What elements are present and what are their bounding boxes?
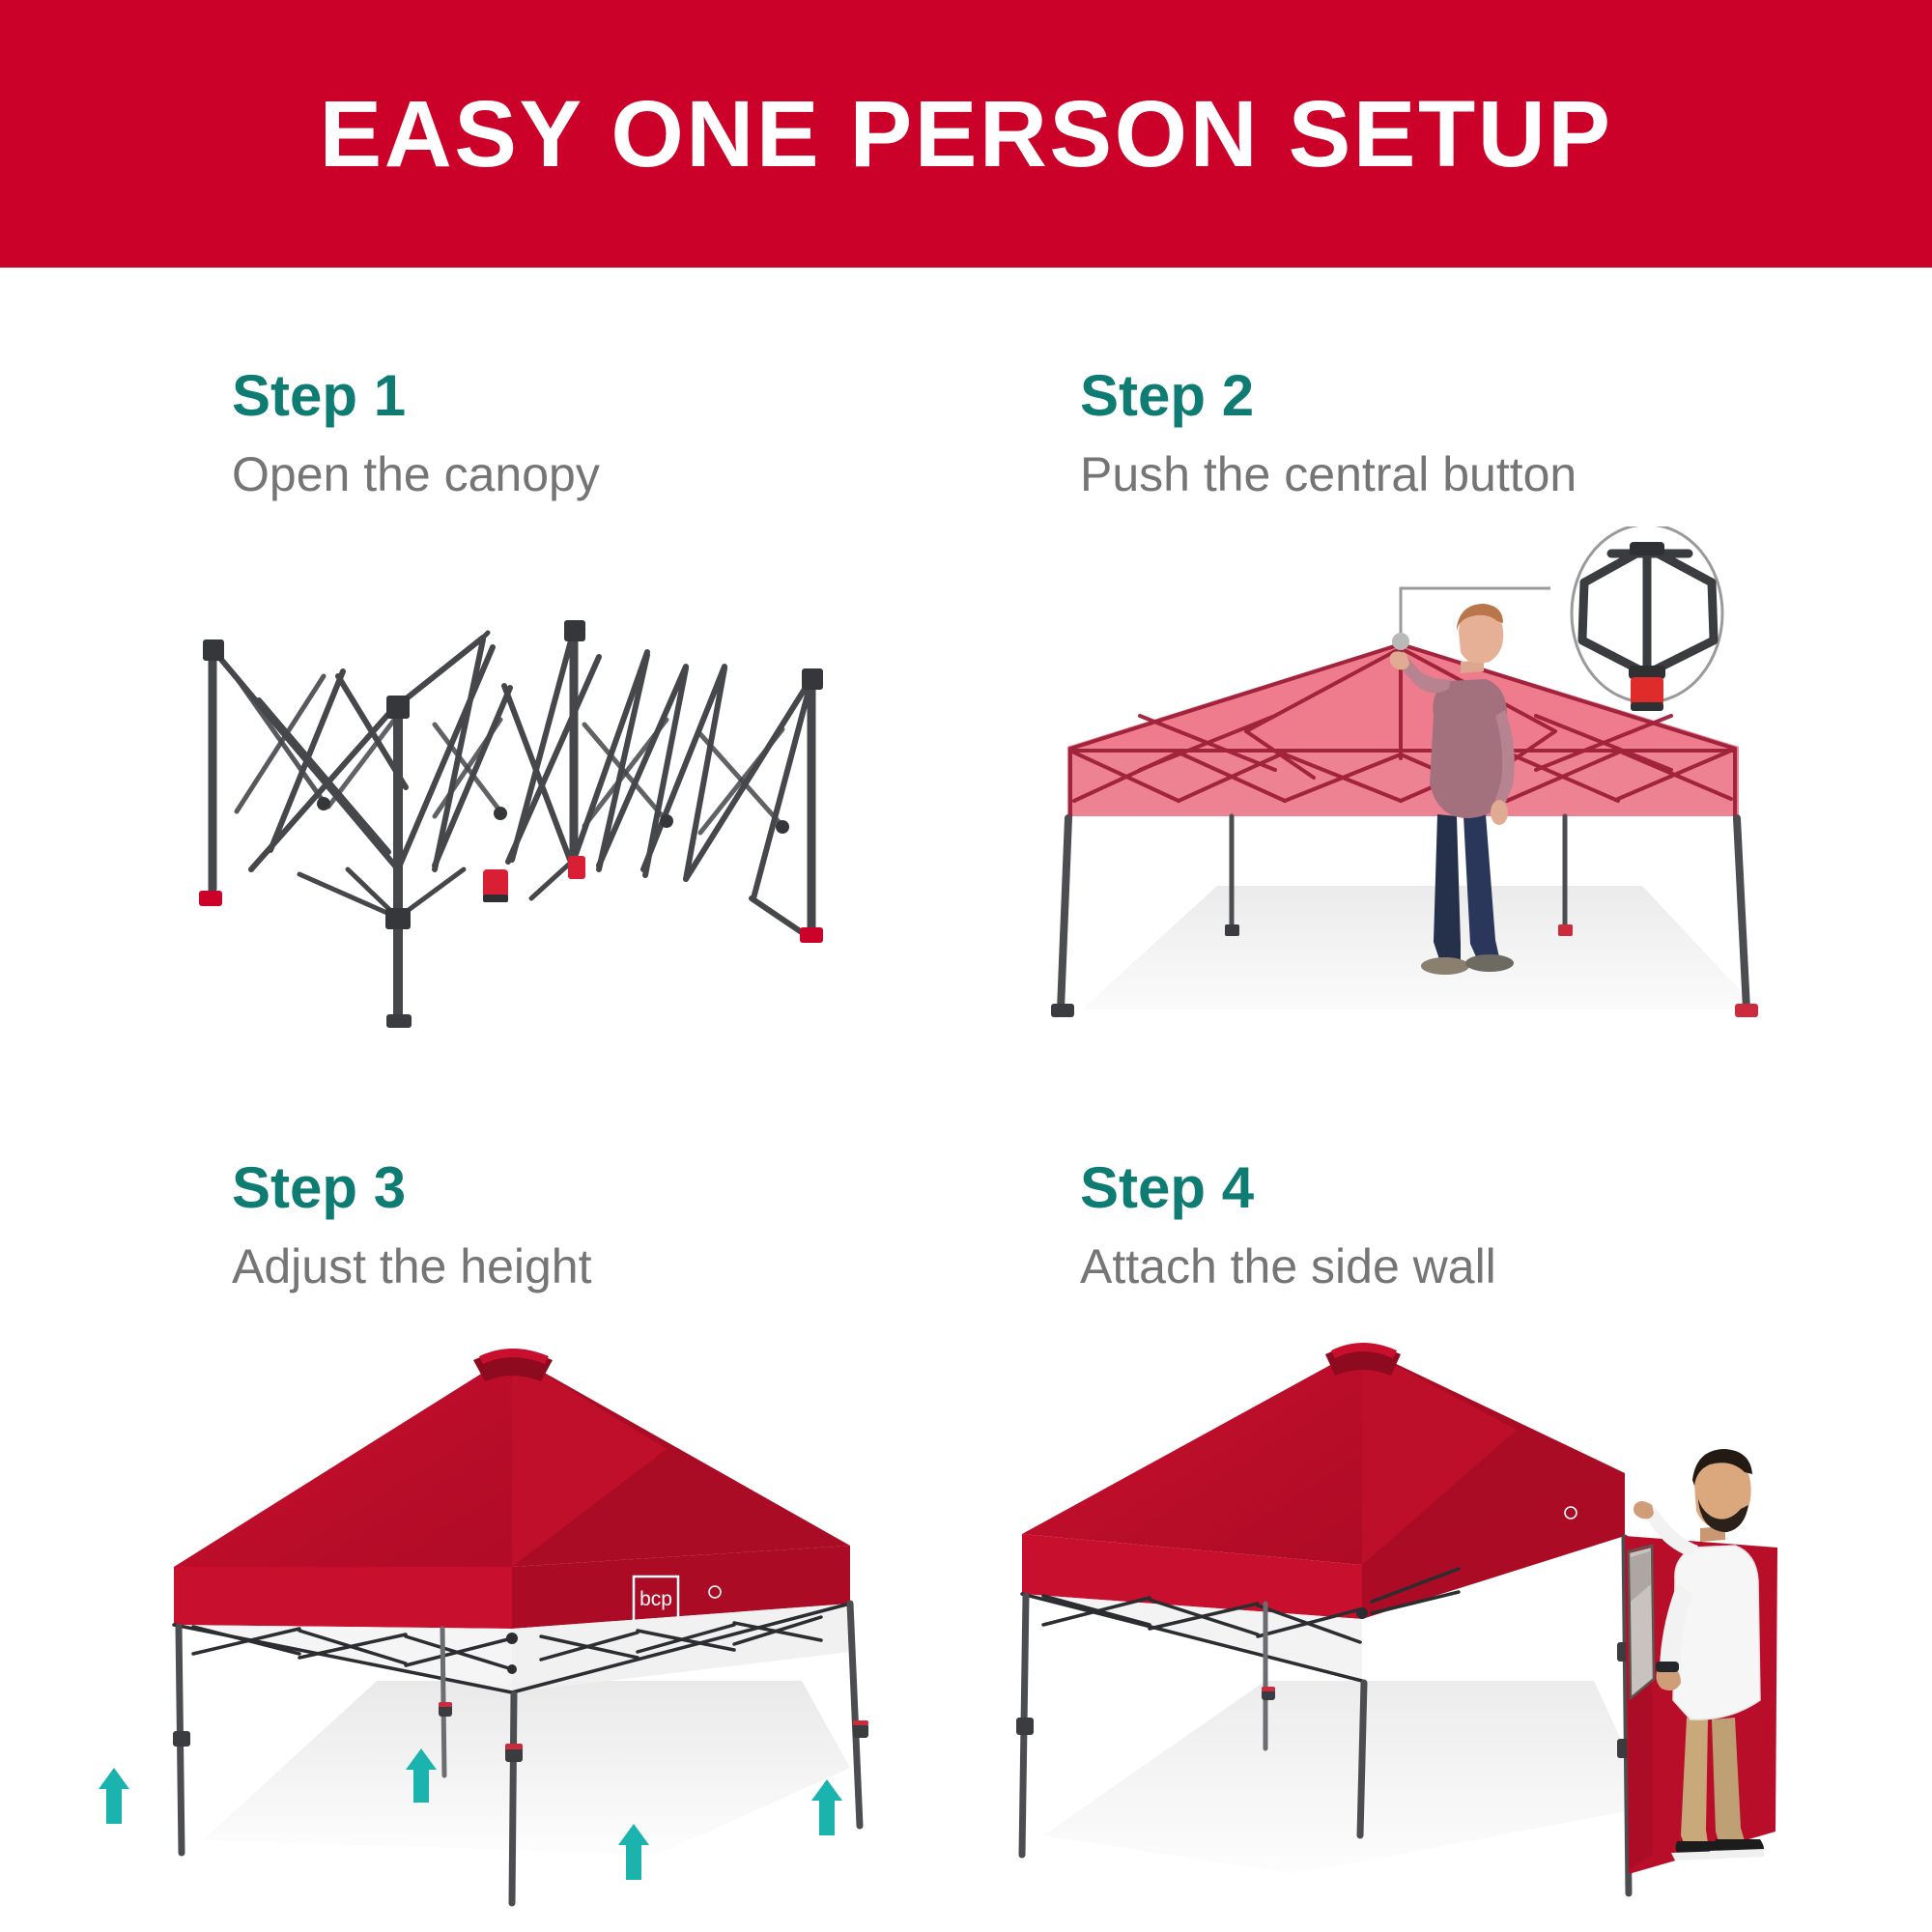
step-3-illustration: bcp BEST CHOICE PRODUCTS: [58, 1314, 889, 1913]
step-1-block: Step 1 Open the canopy: [232, 367, 600, 498]
frame-joints: [203, 620, 823, 929]
ground-shadow: [1043, 1681, 1652, 1874]
canopy-roof: [174, 1349, 850, 1567]
header-banner: EASY ONE PERSON SETUP: [0, 0, 1932, 268]
step-3-subtitle: Adjust the height: [232, 1242, 592, 1291]
wristwatch: [1656, 1662, 1679, 1672]
step-4-subtitle: Attach the side wall: [1080, 1242, 1496, 1291]
central-push-button: [1631, 677, 1663, 706]
ground-shadow: [1082, 886, 1758, 1009]
step-2-title: Step 2: [1080, 367, 1577, 425]
step-3-title: Step 3: [232, 1159, 592, 1217]
arrow-up-icon: [99, 1768, 129, 1824]
step-1-illustration: [145, 580, 879, 1063]
frame-truss-lines: [205, 628, 811, 1019]
callout-anchor-dot: [1392, 633, 1409, 650]
step-2-subtitle: Push the central button: [1080, 450, 1577, 498]
step-1-title: Step 1: [232, 367, 600, 425]
ground-shadow: [203, 1681, 850, 1855]
height-collar: [173, 1731, 190, 1747]
step-2-block: Step 2 Push the central button: [1080, 367, 1577, 498]
step-3-block: Step 3 Adjust the height: [232, 1159, 592, 1291]
setup-instructions-page: EASY ONE PERSON SETUP Step 1 Open the ca…: [0, 0, 1932, 1932]
hub-callout-inset: [1572, 526, 1722, 711]
page-title: EASY ONE PERSON SETUP: [320, 87, 1613, 181]
step-4-block: Step 4 Attach the side wall: [1080, 1159, 1496, 1291]
bcp-logo-text: bcp: [639, 1588, 672, 1610]
step-1-subtitle: Open the canopy: [232, 450, 600, 498]
height-collar: [1016, 1718, 1034, 1735]
step-4-title: Step 4: [1080, 1159, 1496, 1217]
step-4-illustration: [976, 1294, 1816, 1913]
step-2-illustration: [1024, 526, 1797, 1048]
arrow-up-icon: [811, 1779, 842, 1835]
red-accent-parts: [199, 856, 823, 1028]
height-collar: [853, 1723, 868, 1738]
